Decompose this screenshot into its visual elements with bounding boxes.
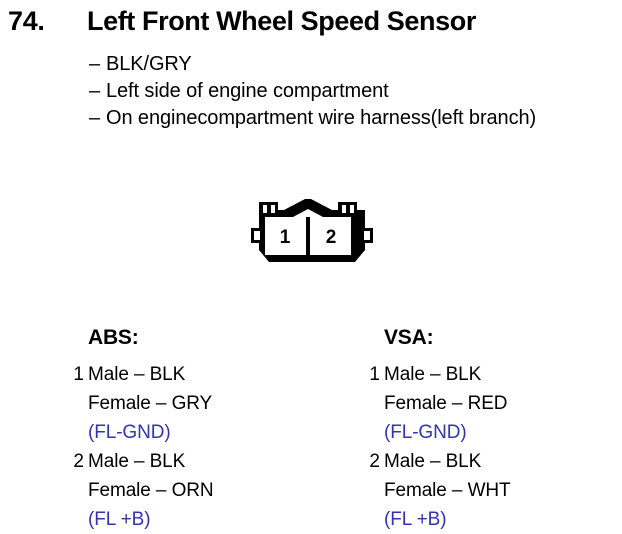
pin-column-vsa: VSA: 1 Male – BLK Female – RED (FL-GND) …: [366, 325, 511, 534]
dash-bullet: –: [89, 51, 106, 78]
pin-entry: 2 Male – BLK Female – WHT (FL +B): [366, 447, 511, 534]
pin-number: 1: [70, 360, 84, 389]
male-wire-color: Male – BLK: [384, 447, 511, 476]
title-row: 74. Left Front Wheel Speed Sensor: [0, 4, 622, 44]
spec-text: On enginecompartment wire harness(left b…: [106, 107, 536, 129]
pin-label-1: 1: [280, 227, 291, 248]
tab-slot-right-b: [350, 205, 354, 213]
connector-outline-icon: 1 2: [248, 196, 376, 268]
spec-line: –Left side of engine compartment: [89, 78, 609, 105]
connector-diagram: 1 2: [248, 196, 376, 268]
pin-detail-lines: Male – BLK Female – WHT (FL +B): [384, 447, 511, 534]
signal-name: (FL +B): [88, 505, 214, 534]
pin-detail-lines: Male – BLK Female – GRY (FL-GND): [88, 360, 214, 447]
pin-number: 2: [366, 447, 380, 476]
side-notch-left: [254, 231, 260, 240]
column-heading-vsa: VSA:: [384, 325, 511, 350]
pin-detail-lines: Male – BLK Female – RED (FL-GND): [384, 360, 511, 447]
tab-slot-left-b: [271, 205, 275, 213]
signal-name: (FL-GND): [88, 418, 214, 447]
tab-slot-left-a: [263, 205, 267, 213]
spec-line: –BLK/GRY: [89, 51, 609, 78]
pin-number: 2: [70, 447, 84, 476]
pin-column-abs: ABS: 1 Male – BLK Female – GRY (FL-GND) …: [70, 325, 214, 534]
item-number: 74.: [8, 4, 45, 38]
female-wire-color: Female – ORN: [88, 476, 214, 505]
column-heading-abs: ABS:: [88, 325, 214, 350]
pin-entry: 1 Male – BLK Female – RED (FL-GND): [366, 360, 511, 447]
spec-text: Left side of engine compartment: [106, 80, 389, 102]
signal-name: (FL-GND): [384, 418, 511, 447]
male-wire-color: Male – BLK: [88, 360, 214, 389]
spec-line: –On enginecompartment wire harness(left …: [89, 105, 609, 132]
page-title: Left Front Wheel Speed Sensor: [87, 4, 476, 38]
male-wire-color: Male – BLK: [88, 447, 214, 476]
dash-bullet: –: [89, 78, 106, 105]
female-wire-color: Female – WHT: [384, 476, 511, 505]
pin-entry: 1 Male – BLK Female – GRY (FL-GND): [70, 360, 214, 447]
spec-text: BLK/GRY: [106, 53, 192, 75]
signal-name: (FL +B): [384, 505, 511, 534]
spec-list: –BLK/GRY –Left side of engine compartmen…: [89, 51, 609, 132]
female-wire-color: Female – RED: [384, 389, 511, 418]
side-notch-right: [364, 231, 370, 240]
pin-detail-lines: Male – BLK Female – ORN (FL +B): [88, 447, 214, 534]
pin-entry: 2 Male – BLK Female – ORN (FL +B): [70, 447, 214, 534]
pin-label-2: 2: [326, 227, 337, 248]
female-wire-color: Female – GRY: [88, 389, 214, 418]
tab-slot-right-a: [342, 205, 346, 213]
dash-bullet: –: [89, 105, 106, 132]
male-wire-color: Male – BLK: [384, 360, 511, 389]
pin-number: 1: [366, 360, 380, 389]
